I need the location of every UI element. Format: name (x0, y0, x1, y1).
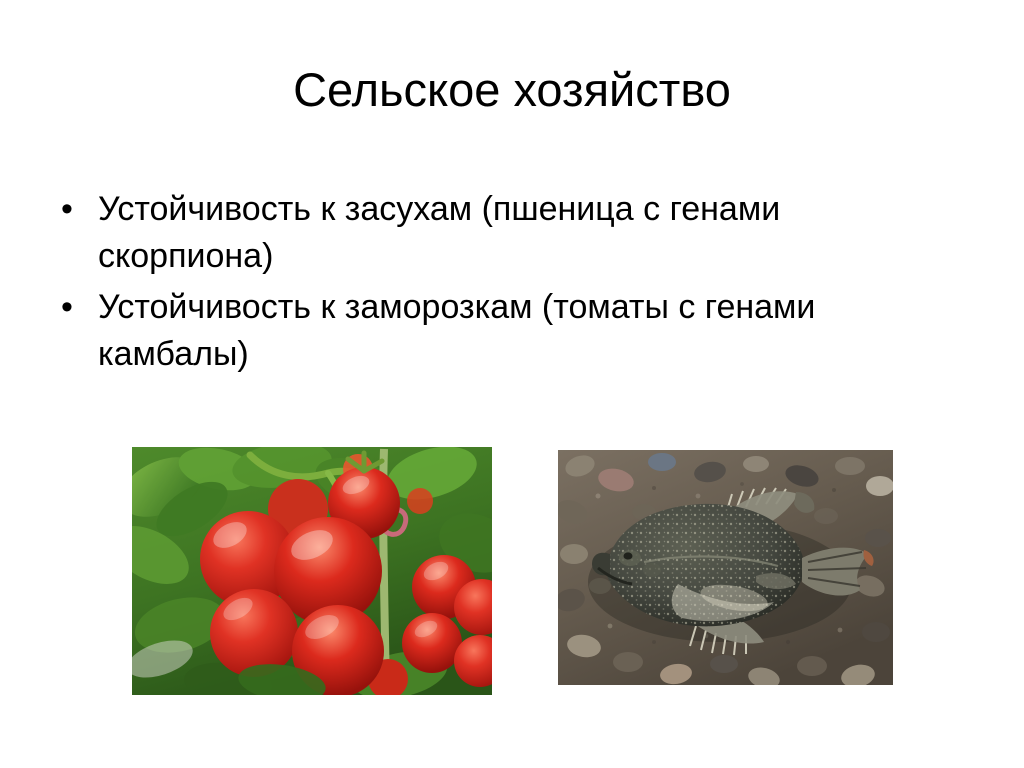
bullet-point-icon: • (52, 186, 98, 233)
tomatoes-illustration (132, 447, 492, 695)
bullet-list: • Устойчивость к засухам (пшеница с гена… (52, 186, 972, 382)
image-flounder-on-gravel (558, 450, 893, 685)
list-item: • Устойчивость к засухам (пшеница с гена… (52, 186, 972, 280)
bullet-point-icon: • (52, 284, 98, 331)
page-title: Сельское хозяйство (0, 62, 1024, 118)
bullet-text: Устойчивость к заморозкам (томаты с гена… (98, 284, 953, 378)
figure-row (0, 447, 1024, 707)
image-tomatoes-on-vine (132, 447, 492, 695)
list-item: • Устойчивость к заморозкам (томаты с ге… (52, 284, 972, 378)
flounder-illustration (558, 450, 893, 685)
bullet-text: Устойчивость к засухам (пшеница с генами… (98, 186, 953, 280)
slide: Сельское хозяйство • Устойчивость к засу… (0, 0, 1024, 768)
